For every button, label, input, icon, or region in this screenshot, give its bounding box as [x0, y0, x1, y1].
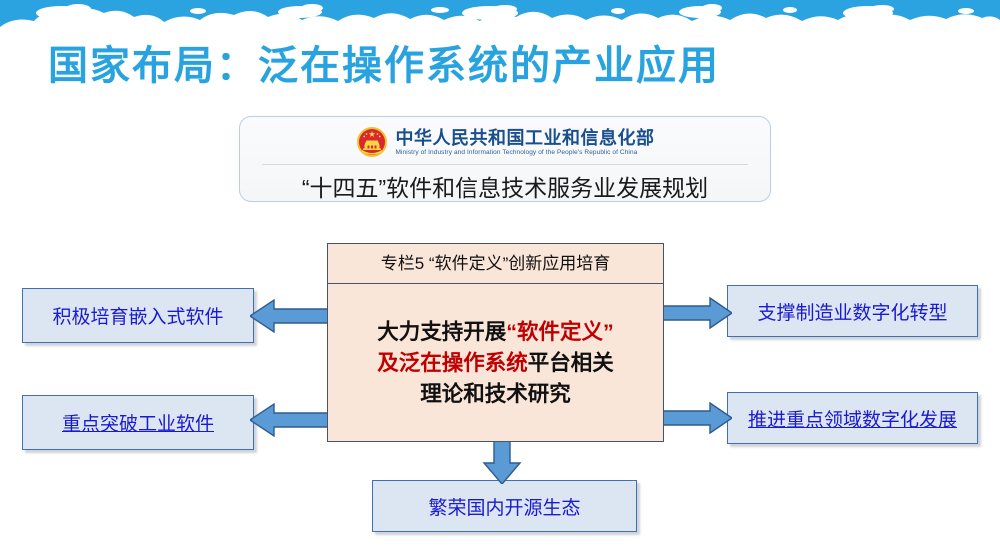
miit-org-row: 中华人民共和国工业和信息化部 Ministry of Industry and … [240, 123, 770, 161]
box-manufacturing-transform: 支撑制造业数字化转型 [727, 285, 978, 337]
body-line2-red: 及泛在操作系统 [377, 351, 528, 375]
arrow-right-bottom-icon [660, 400, 732, 436]
plan-title: “十四五”软件和信息技术服务业发展规划 [240, 169, 770, 203]
box-industrial-software-label: 重点突破工业软件 [62, 409, 214, 436]
box-open-source-ecology-label: 繁荣国内开源生态 [428, 493, 580, 520]
miit-document-banner: 中华人民共和国工业和信息化部 Ministry of Industry and … [239, 116, 771, 202]
arrow-down-icon [481, 438, 523, 484]
page-title: 国家布局：泛在操作系统的产业应用 [48, 33, 720, 91]
arrow-left-top-icon [250, 297, 332, 335]
box-key-field-digital: 推进重点领域数字化发展 [727, 392, 978, 444]
center-box-body-text: 大力支持开展“软件定义” 及泛在操作系统平台相关 理论和技术研究 [377, 317, 614, 410]
arrow-left-bottom-icon [250, 401, 332, 439]
body-line1-red: “软件定义” [506, 320, 614, 344]
center-policy-box: 专栏5 “软件定义”创新应用培育 大力支持开展“软件定义” 及泛在操作系统平台相… [327, 243, 664, 442]
box-embedded-software: 积极培育嵌入式软件 [22, 288, 254, 343]
miit-divider [262, 164, 748, 165]
body-line3: 理论和技术研究 [420, 382, 571, 406]
box-industrial-software: 重点突破工业软件 [22, 395, 254, 450]
center-box-body: 大力支持开展“软件定义” 及泛在操作系统平台相关 理论和技术研究 [328, 284, 663, 442]
body-line1-plain: 大力支持开展 [377, 320, 506, 344]
body-line2-plain: 平台相关 [528, 351, 614, 375]
box-embedded-software-label: 积极培育嵌入式软件 [52, 302, 223, 329]
box-manufacturing-transform-label: 支撑制造业数字化转型 [757, 298, 947, 325]
center-box-header: 专栏5 “软件定义”创新应用培育 [328, 244, 663, 284]
box-open-source-ecology: 繁荣国内开源生态 [372, 480, 637, 532]
box-key-field-digital-label: 推进重点领域数字化发展 [748, 405, 957, 432]
miit-name-en: Ministry of Industry and Information Tec… [396, 148, 655, 157]
miit-name-block: 中华人民共和国工业和信息化部 Ministry of Industry and … [396, 128, 655, 157]
arrow-right-top-icon [660, 295, 732, 331]
china-national-emblem-icon [356, 126, 388, 158]
miit-name-cn: 中华人民共和国工业和信息化部 [396, 128, 655, 148]
